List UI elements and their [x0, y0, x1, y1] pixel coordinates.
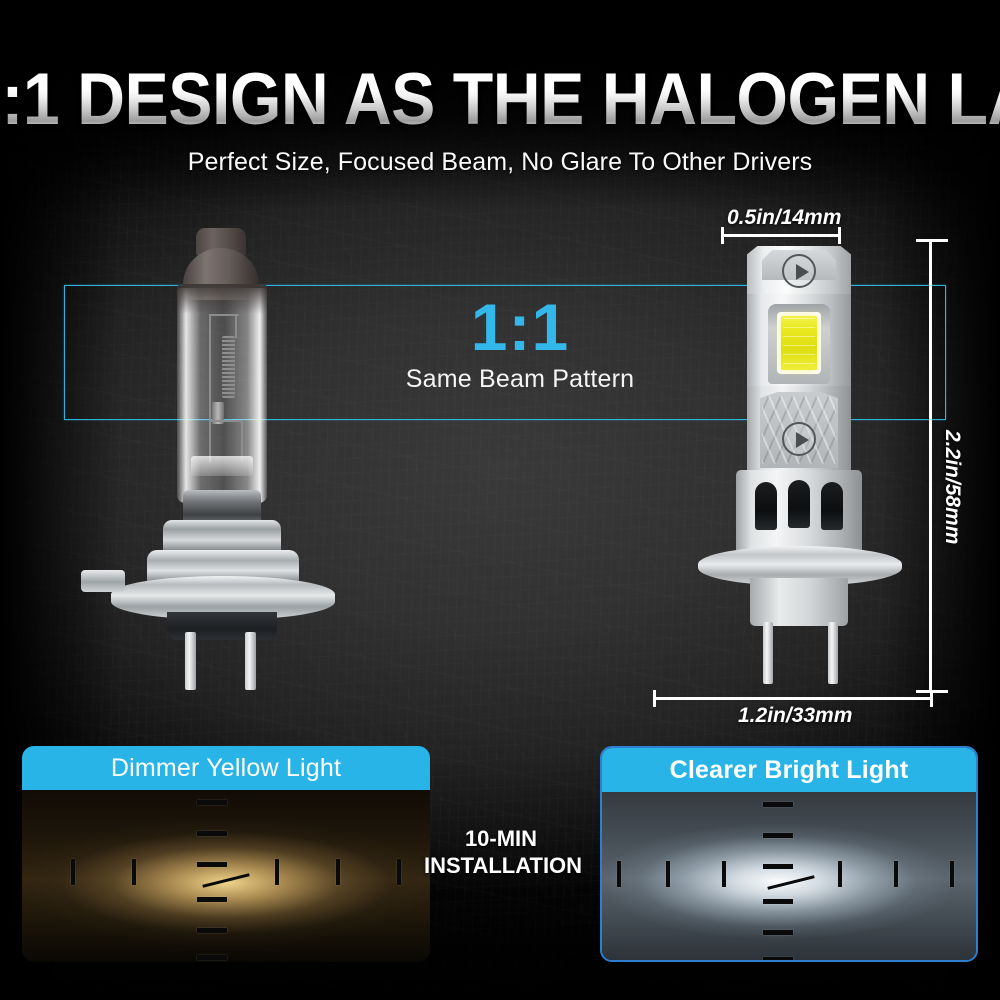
led-beam-photo [602, 792, 976, 962]
install-note: 10-MIN INSTALLATION [424, 826, 578, 880]
beam-tick-v-1 [71, 859, 75, 885]
halogen-base-collar [167, 612, 277, 640]
beam-tick-v-2 [666, 861, 670, 887]
infographic-canvas: 1:1 DESIGN AS THE HALOGEN LAMP Perfect S… [0, 0, 1000, 1000]
beam-cutoff-line [202, 874, 249, 889]
beam-tick-h-1 [763, 802, 793, 807]
filament-lead-e [209, 420, 243, 422]
page-title: 1:1 DESIGN AS THE HALOGEN LAMP [0, 64, 1000, 137]
dimension-label-width-top: 0.5in/14mm [727, 206, 841, 230]
halogen-bulb [95, 228, 350, 688]
install-note-line2: INSTALLATION [424, 853, 578, 880]
beam-tick-v-3 [275, 859, 279, 885]
led-bulb [700, 246, 900, 691]
comparison-card-led[interactable]: Clearer Bright Light [600, 746, 978, 962]
halogen-glass-shade [177, 284, 267, 314]
dimension-tick-bottom-right [930, 690, 933, 707]
beam-tick-h-4 [197, 897, 227, 902]
dimension-tick-top-right [838, 227, 841, 244]
dimension-label-height: 2.2in/58mm [940, 430, 964, 544]
led-vent-slot-2 [788, 480, 810, 528]
dimension-line-width-top [721, 234, 841, 237]
beam-tick-v-4 [336, 859, 340, 885]
install-note-line1: 10-MIN [424, 826, 578, 853]
comparison-card-led-header: Clearer Bright Light [602, 748, 976, 792]
beam-tick-v-2 [132, 859, 136, 885]
beam-tick-h-6 [763, 957, 793, 962]
beam-tick-h-4 [763, 899, 793, 904]
beam-tick-h-2 [197, 831, 227, 836]
beam-cutoff-line [767, 876, 814, 891]
led-vent-slot-1 [755, 482, 777, 530]
page-subtitle: Perfect Size, Focused Beam, No Glare To … [0, 148, 1000, 177]
beam-tick-v-5 [397, 859, 401, 885]
dimension-line-width-bottom [653, 697, 933, 700]
beam-tick-v-3 [722, 861, 726, 887]
ratio-caption: Same Beam Pattern [380, 365, 660, 394]
led-vent-slot-3 [821, 482, 843, 530]
comparison-card-led-title: Clearer Bright Light [670, 756, 909, 785]
filament-lead-c [235, 314, 237, 338]
filament-coil [222, 336, 235, 398]
comparison-card-halogen[interactable]: Dimmer Yellow Light [22, 746, 430, 962]
led-chip-segments [783, 318, 815, 368]
beam-tick-h-3 [763, 864, 793, 869]
beam-tick-h-2 [763, 833, 793, 838]
led-prong-left [763, 622, 773, 684]
beam-tick-h-5 [763, 930, 793, 935]
halogen-beam-photo [22, 790, 430, 962]
beam-tick-v-5 [894, 861, 898, 887]
beam-tick-h-3 [197, 862, 227, 867]
led-prong-right [828, 622, 838, 684]
beam-tick-v-4 [838, 861, 842, 887]
ratio-callout: 1:1 Same Beam Pattern [380, 296, 660, 394]
ratio-value: 1:1 [380, 296, 660, 359]
halogen-prong-right [245, 632, 256, 690]
comparison-card-halogen-title: Dimmer Yellow Light [111, 754, 341, 783]
beam-tick-v-1 [617, 861, 621, 887]
beam-tick-h-5 [197, 928, 227, 933]
beam-tick-h-1 [197, 800, 227, 805]
dimension-tick-height-top [916, 239, 948, 242]
play-triangle-icon-top [782, 254, 816, 288]
beam-tick-v-6 [950, 861, 954, 887]
dimension-line-height [929, 240, 932, 692]
filament-lead-a [209, 314, 211, 414]
led-stem [750, 578, 848, 626]
dimension-tick-top-left [721, 227, 724, 244]
beam-tick-h-6 [197, 955, 227, 960]
comparison-card-halogen-header: Dimmer Yellow Light [22, 746, 430, 790]
dimension-tick-bottom-left [653, 690, 656, 707]
halogen-prong-left [185, 632, 196, 690]
dimension-label-width-bottom: 1.2in/33mm [738, 704, 852, 728]
play-triangle-icon-bottom [782, 422, 816, 456]
halogen-shield [191, 456, 253, 476]
halogen-side-tab [81, 570, 125, 592]
